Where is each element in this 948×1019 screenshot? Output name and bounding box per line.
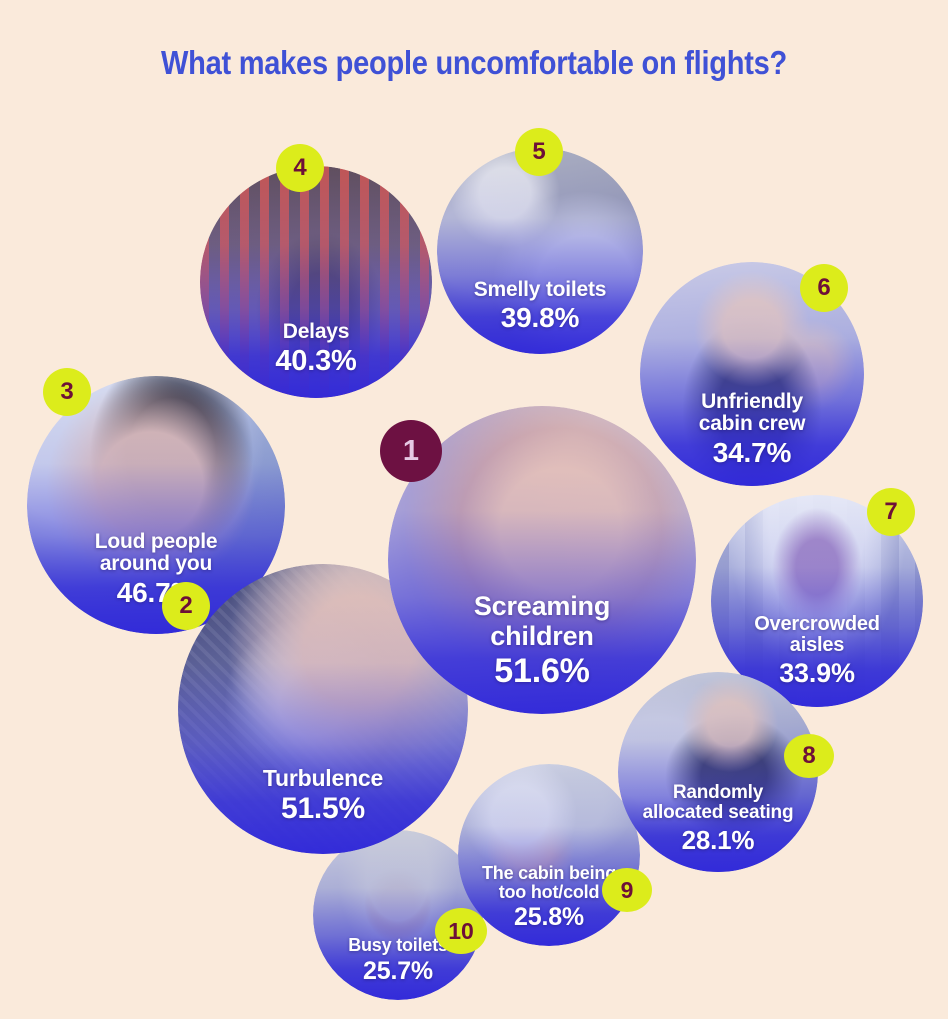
bubble-label-line2: allocated seating <box>626 803 810 824</box>
bubble-caption: Randomly allocated seating 28.1% <box>626 783 810 854</box>
bubble-disc: The cabin being too hot/cold 25.8% <box>458 764 640 946</box>
bubble-delays[interactable]: Delays 40.3% 4 <box>200 166 432 398</box>
rank-badge-9[interactable]: 9 <box>602 868 652 912</box>
bubble-label-line1: Unfriendly <box>649 391 855 414</box>
bubble-caption: Screaming children 51.6% <box>400 592 683 689</box>
bubble-percent: 25.8% <box>465 904 632 931</box>
bubble-label-line1: Overcrowded <box>719 614 914 636</box>
bubble-label-line2: around you <box>37 553 274 576</box>
rank-badge-1[interactable]: 1 <box>380 420 442 482</box>
bubble-label-line1: Turbulence <box>190 766 457 791</box>
bubble-smelly-toilets[interactable]: Smelly toilets 39.8% 5 <box>437 148 643 354</box>
rank-badge-2[interactable]: 2 <box>162 582 210 630</box>
bubble-label-line2: aisles <box>719 635 914 657</box>
bubble-disc: Delays 40.3% <box>200 166 432 398</box>
bubble-label-line1: Randomly <box>626 783 810 804</box>
bubble-percent: 34.7% <box>649 438 855 468</box>
rank-badge-3[interactable]: 3 <box>43 368 91 416</box>
rank-badge-5[interactable]: 5 <box>515 128 563 176</box>
bubble-percent: 39.8% <box>445 303 635 333</box>
bubble-percent: 40.3% <box>209 346 422 377</box>
rank-badge-7[interactable]: 7 <box>867 488 915 536</box>
bubble-percent: 25.7% <box>320 958 476 985</box>
bubble-label-line1: Loud people <box>37 531 274 554</box>
bubble-label-line1: Smelly toilets <box>445 279 635 302</box>
bubble-percent: 51.5% <box>190 793 457 825</box>
bubble-randomly-allocated-seating[interactable]: Randomly allocated seating 28.1% 8 <box>618 672 818 872</box>
bubble-caption: Turbulence 51.5% <box>190 766 457 825</box>
bubble-label-line1: Delays <box>209 321 422 344</box>
bubble-disc: Smelly toilets 39.8% <box>437 148 643 354</box>
bubble-chart: Screaming children 51.6% 1 Turbulence 51… <box>0 0 948 1019</box>
bubble-caption: Unfriendly cabin crew 34.7% <box>649 391 855 469</box>
bubble-caption: Delays 40.3% <box>209 321 422 377</box>
bubble-percent: 28.1% <box>626 826 810 854</box>
bubble-label-line2: children <box>400 622 683 651</box>
bubble-cabin-too-hot-cold[interactable]: The cabin being too hot/cold 25.8% 9 <box>458 764 640 946</box>
bubble-caption: Smelly toilets 39.8% <box>445 279 635 334</box>
rank-badge-6[interactable]: 6 <box>800 264 848 312</box>
bubble-disc: Randomly allocated seating 28.1% <box>618 672 818 872</box>
bubble-percent: 51.6% <box>400 653 683 690</box>
bubble-label-line1: Screaming <box>400 592 683 621</box>
bubble-screaming-children[interactable]: Screaming children 51.6% 1 <box>388 406 696 714</box>
bubble-unfriendly-cabin-crew[interactable]: Unfriendly cabin crew 34.7% 6 <box>640 262 864 486</box>
rank-badge-4[interactable]: 4 <box>276 144 324 192</box>
bubble-label-line2: cabin crew <box>649 413 855 436</box>
rank-badge-8[interactable]: 8 <box>784 734 834 778</box>
